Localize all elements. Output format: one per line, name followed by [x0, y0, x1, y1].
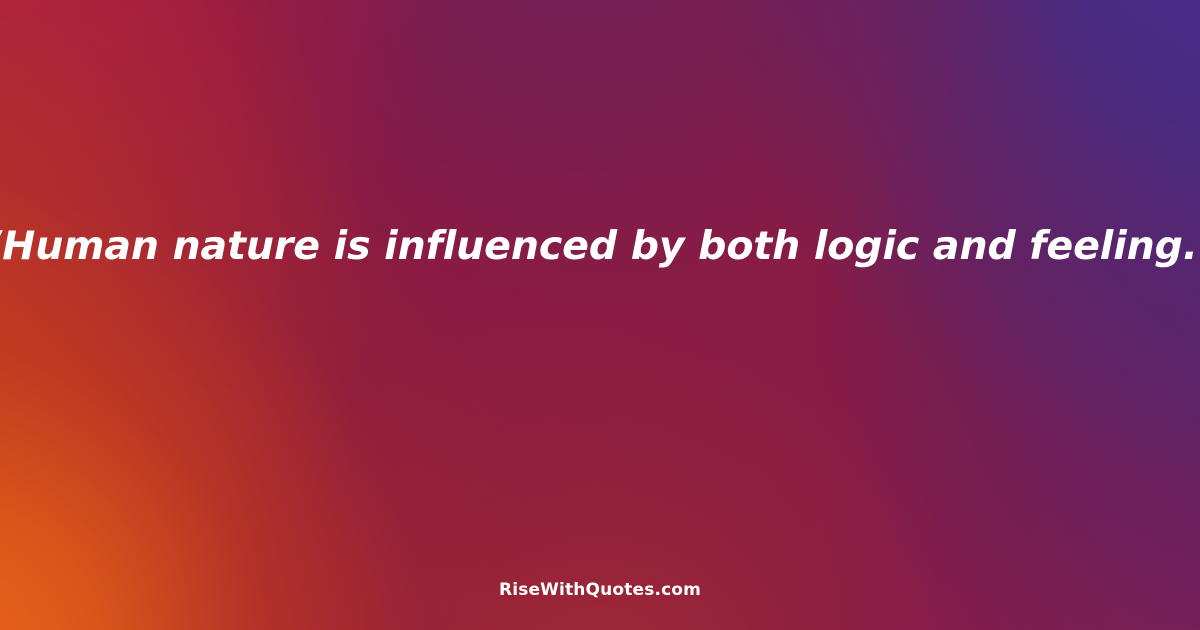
quote-text: “Human nature is influenced by both logi…: [0, 222, 1200, 270]
site-attribution: RiseWithQuotes.com: [499, 580, 701, 600]
quote-poster: “Human nature is influenced by both logi…: [0, 0, 1200, 630]
quote-container: “Human nature is influenced by both logi…: [0, 222, 1200, 270]
background-gradient: [0, 0, 1200, 630]
footer-container: RiseWithQuotes.com: [0, 580, 1200, 600]
